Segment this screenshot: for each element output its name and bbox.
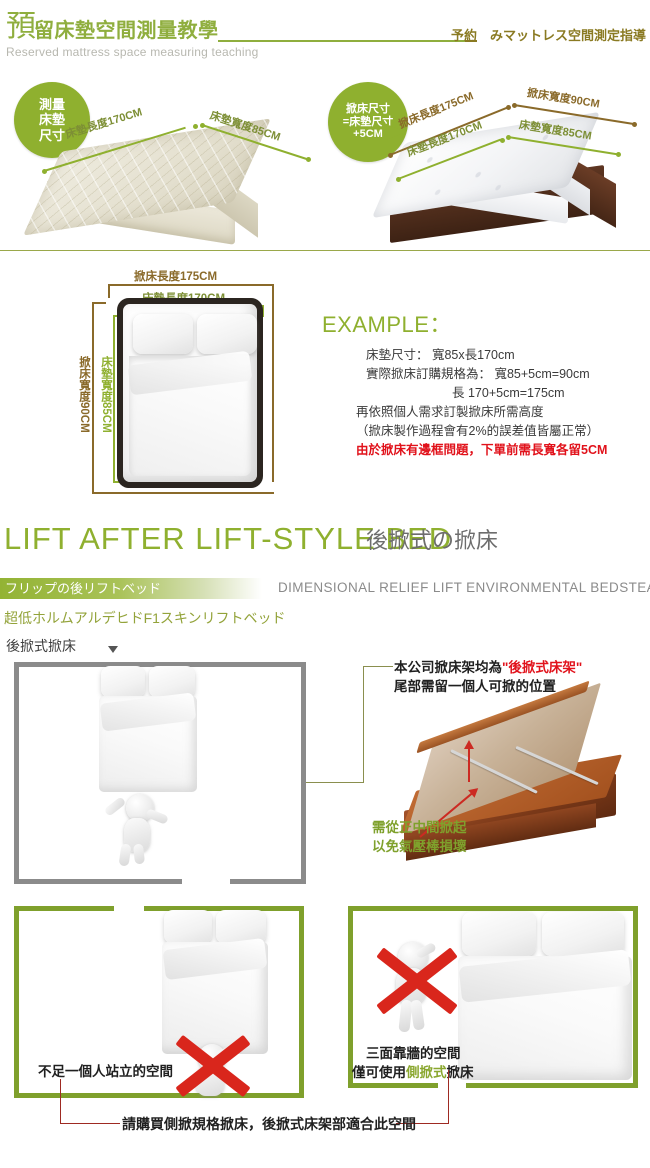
room-duvet — [99, 696, 197, 792]
label-plan-lift-width: 掀床寬度90CM — [76, 356, 92, 433]
room-diagram-green-left: 不足一個人站立的空間 — [14, 906, 304, 1098]
bracket-lift-width-top — [92, 302, 106, 304]
bed-on-frame-3d — [368, 118, 638, 238]
example-title: EXAMPLE： — [322, 307, 452, 339]
person-leg-left — [119, 843, 132, 866]
lift-bed-title-section: LIFT AFTER LIFT-STYLE BED 後掀式の掀床 フリップの後リ… — [0, 516, 650, 636]
page-title: 留床墊空間測量教學 — [34, 20, 219, 42]
note-lift-line2: 以免氣壓棒損壞 — [372, 837, 467, 856]
x-mark-left — [170, 1034, 256, 1098]
liftbed-mattress-illustration: 掀床尺寸 =床墊尺寸 +5CM 掀床長度175CM 掀床寬度90CM 床墊長度1… — [320, 76, 650, 246]
note-frame-line2: 尾部需留一個人可掀的位置 — [394, 677, 556, 696]
dimdot-r-b — [506, 105, 511, 110]
example-line-5: （掀床製作過程會有2%的誤差值皆屬正常） — [356, 422, 599, 441]
arrow-lift-center — [468, 748, 470, 782]
leader-line-vertical — [363, 666, 364, 783]
mattress-measure-section: 測量 床墊 尺寸 床墊長度170CM 床墊寬度85CM 掀床尺寸 =床墊尺寸 — [0, 76, 650, 246]
room-wall-bottom-left — [14, 879, 182, 884]
footer-leader-left — [104, 1123, 120, 1124]
room-wall-left — [14, 662, 19, 884]
section-divider-1 — [0, 250, 650, 251]
x-mark-right — [370, 942, 464, 1020]
room-diagram-grey — [14, 662, 306, 884]
room-wall-bottom-right — [230, 879, 306, 884]
right-room-duvet-fold — [459, 949, 632, 1003]
example-line-2: 實際掀床訂購規格為： 寬85+5cm=90cm — [366, 365, 590, 384]
room-pillow-left — [101, 666, 145, 698]
bed-plan-view: 掀床長度175CM 床墊長度170CM 掀床寬度90CM 床墊寬度85CM — [0, 252, 310, 502]
dimdot-r-c — [512, 103, 517, 108]
chevron-down-icon — [108, 646, 118, 653]
room-diagram-green-right: 三面靠牆的空間 僅可使用側掀式掀床 — [348, 906, 638, 1088]
green-room-right-wall-left — [348, 906, 353, 1088]
example-text-block: EXAMPLE： 床墊尺寸： 寬85x長170cm 實際掀床訂購規格為： 寬85… — [310, 252, 650, 502]
page-header: 預 留床墊空間測量教學 予約 みマットレス空間測定指導 Reserved mat… — [0, 0, 650, 72]
leader-line-horizontal — [306, 782, 364, 783]
dimdot-r-a — [388, 153, 393, 158]
person-arm-left — [104, 796, 127, 817]
right-room-caption-line2: 僅可使用側掀式掀床 — [352, 1063, 474, 1082]
leader-line-to-note — [363, 666, 393, 667]
example-line-4: 再依照個人需求訂製掀床所需高度 — [356, 403, 544, 422]
dimdot-left-a — [42, 169, 47, 174]
green-room-left-wall-bottom — [14, 1093, 304, 1098]
left-room-duvet-fold — [163, 938, 268, 980]
note-frame-line1: 本公司掀床架均為"後掀式床架" — [394, 658, 582, 677]
plan-bed-sheet — [123, 304, 257, 482]
example-line-3: 長 170+5cm=175cm — [452, 384, 565, 403]
green-room-right-wall-bottom-a — [348, 1083, 438, 1088]
example-line-1: 床墊尺寸： 寬85x長170cm — [366, 346, 515, 365]
footer-note: 請購買側掀規格掀床，後掀式床架部適合此空間 — [122, 1114, 416, 1134]
note-frame-line1-text: 本公司掀床架均為 — [394, 660, 502, 675]
right-room-pillow-left — [462, 912, 536, 956]
right-room-duvet — [458, 956, 632, 1080]
note-lift-line1: 需從正中間掀起 — [372, 818, 467, 837]
room-duvet-fold — [100, 692, 197, 731]
example-warning: 由於掀床有邊框問題，下單前需長寬各留5CM — [356, 441, 607, 460]
bubble-measure-line-1: 測量 — [39, 97, 65, 112]
dimdot-left-b — [193, 124, 198, 129]
bubble-measure-line-2: 床墊 — [39, 112, 65, 127]
subtitle-japanese: 超低ホルムアルデヒドF1スキンリフトベッド — [4, 609, 286, 627]
right-room-caption-line1: 三面靠牆的空間 — [366, 1044, 461, 1063]
rear-lift-room-label: 後掀式掀床 — [6, 636, 76, 656]
person-leg-right — [133, 844, 145, 865]
rear-lift-room-section: 後掀式掀床 本公司掀床架均為"後掀式床架" — [0, 636, 650, 898]
room-wall-right — [301, 662, 306, 884]
right-caption-part-c: 掀床 — [447, 1065, 474, 1080]
right-room-bed — [458, 910, 634, 1080]
dimdot-r-e — [396, 177, 401, 182]
tagline-english: DIMENSIONAL RELIEF LIFT ENVIRONMENTAL BE… — [278, 578, 650, 597]
green-room-left-wall-right — [299, 906, 304, 1098]
room-bed-plan — [99, 664, 199, 794]
plan-pillow-left — [133, 314, 193, 354]
dimdot-r-g — [506, 135, 511, 140]
example-section: 掀床長度175CM 床墊長度170CM 掀床寬度90CM 床墊寬度85CM EX… — [0, 252, 650, 502]
bracket-lift-length-left — [108, 284, 110, 298]
japanese-band: フリップの後リフトベッド — [0, 578, 262, 599]
right-caption-part-b: 側掀式 — [406, 1065, 447, 1080]
mattress-plain-illustration: 測量 床墊 尺寸 床墊長度170CM 床墊寬度85CM — [0, 76, 320, 246]
left-caption-leader-vertical — [60, 1079, 61, 1124]
dimdot-r-h — [616, 152, 621, 157]
header-big-character: 預 — [6, 12, 36, 42]
bracket-lift-length-right — [272, 284, 274, 482]
person-arm-right — [145, 808, 169, 825]
bracket-lift-length-top — [108, 284, 274, 286]
bubble-lift-line-1: 掀床尺寸 — [343, 103, 393, 116]
green-room-left-wall-left — [14, 906, 19, 1098]
plan-pillow-right — [197, 314, 257, 354]
dimdot-r-f — [500, 138, 505, 143]
header-title-japanese: 予約 みマットレス空間測定指導 — [451, 28, 646, 43]
right-room-pillow-right — [542, 912, 624, 956]
dimdot-left-c — [200, 123, 205, 128]
left-room-pillow-left — [164, 910, 212, 944]
right-caption-leader-vertical — [448, 1070, 449, 1124]
green-room-right-wall-bottom-b — [466, 1083, 638, 1088]
left-room-caption: 不足一個人站立的空間 — [38, 1062, 173, 1081]
mattress-3d-body — [42, 138, 302, 238]
bracket-lift-width-bottom — [92, 492, 274, 494]
green-room-left-wall-top-a — [14, 906, 114, 911]
label-plan-lift-length: 掀床長度175CM — [134, 268, 217, 284]
japanese-band-label: フリップの後リフトベッド — [5, 580, 161, 597]
plan-duvet — [129, 356, 251, 476]
headline-chinese: 後掀式の掀床 — [366, 528, 498, 554]
right-caption-part-a: 僅可使用 — [352, 1065, 406, 1080]
person-figure-standing — [102, 788, 174, 866]
note-frame-line1-highlight: "後掀式床架" — [502, 660, 582, 675]
bracket-lift-width-vert — [92, 302, 94, 494]
dimdot-left-d — [306, 157, 311, 162]
dimdot-r-d — [632, 122, 637, 127]
header-rule — [218, 40, 468, 42]
bottom-rooms-section: 不足一個人站立的空間 三面靠牆的空間 僅可使用側掀 — [0, 898, 650, 1128]
label-plan-mat-width: 床墊寬度85CM — [98, 356, 114, 433]
plan-bed-frame — [117, 298, 263, 488]
header-subtitle-english: Reserved mattress space measuring teachi… — [6, 45, 259, 59]
